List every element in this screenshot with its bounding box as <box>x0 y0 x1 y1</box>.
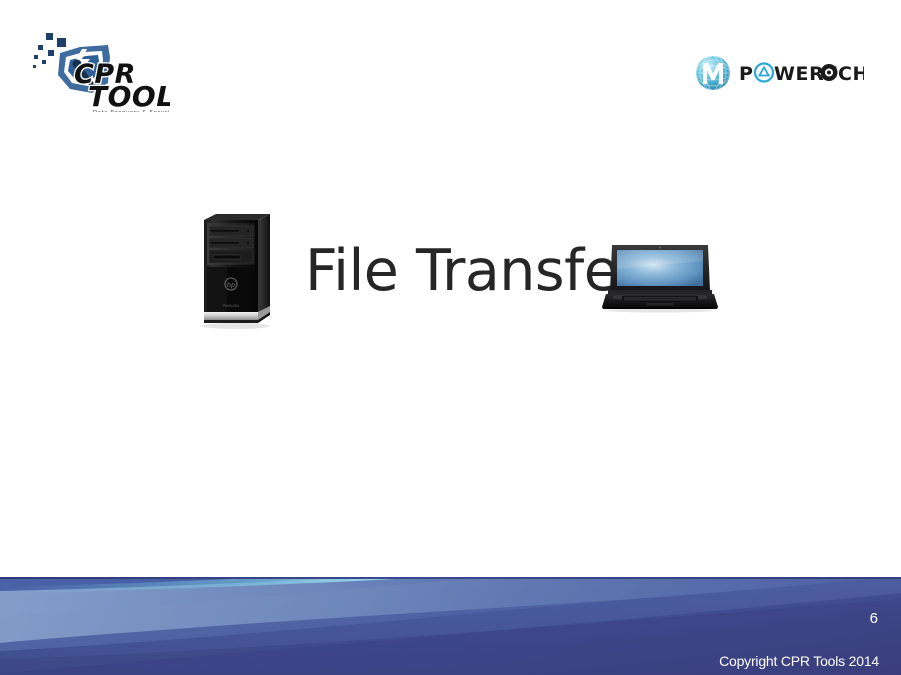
page-number: 6 <box>870 611 878 626</box>
content-row: hp PAVILION File Transfer <box>0 205 901 335</box>
tower-brand-text: PAVILION <box>223 304 239 308</box>
triangle-in-circle-icon <box>755 64 773 82</box>
slide-canvas: CPR TOOLS Data Recovery & Security <box>0 0 901 675</box>
svg-text:hp: hp <box>227 281 235 289</box>
powertech-wordmark-pre: P <box>739 63 754 85</box>
laptop-image <box>600 243 720 313</box>
dot-in-circle-icon <box>821 64 838 81</box>
trackpad-icon <box>646 303 674 306</box>
powertech-wordmark-post: CH <box>838 63 864 85</box>
cpr-tools-logo: CPR TOOLS Data Recovery & Security <box>30 27 170 112</box>
page-title: File Transfer <box>305 243 600 300</box>
globe-icon <box>696 56 730 90</box>
desktop-tower-image: hp PAVILION <box>198 210 274 330</box>
copyright-text: Copyright CPR Tools 2014 <box>719 654 879 668</box>
webcam-icon <box>659 247 661 249</box>
cpr-tagline: Data Recovery & Security <box>93 110 170 112</box>
tools-wordmark: TOOLS <box>88 80 170 112</box>
drive-bays-icon <box>209 226 253 263</box>
powertech-logo: P WERT CH <box>694 54 864 92</box>
